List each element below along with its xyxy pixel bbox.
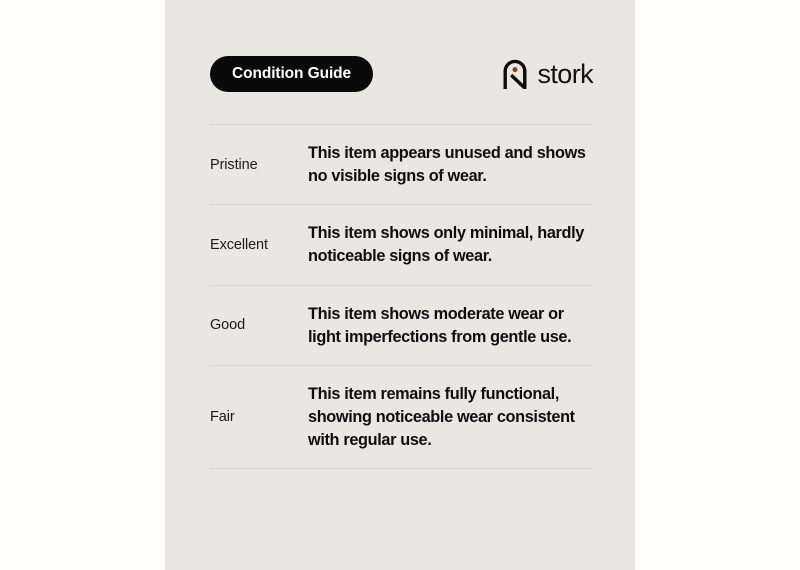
- condition-description: This item remains fully functional, show…: [308, 383, 592, 452]
- table-row: Excellent This item shows only minimal, …: [210, 205, 592, 284]
- table-row: Fair This item remains fully functional,…: [210, 366, 592, 468]
- condition-guide-table: Pristine This item appears unused and sh…: [210, 124, 592, 469]
- condition-description: This item appears unused and shows no vi…: [308, 142, 592, 188]
- table-row: Good This item shows moderate wear or li…: [210, 286, 592, 365]
- condition-description: This item shows moderate wear or light i…: [308, 303, 592, 349]
- condition-label: Good: [210, 316, 308, 335]
- condition-guide-card: Condition Guide stork Pristine This item…: [165, 0, 635, 570]
- table-row: Pristine This item appears unused and sh…: [210, 125, 592, 204]
- brand-name: stork: [537, 61, 593, 88]
- condition-guide-badge: Condition Guide: [210, 56, 373, 92]
- condition-label: Excellent: [210, 236, 308, 255]
- page-root: Condition Guide stork Pristine This item…: [0, 0, 800, 570]
- condition-label: Fair: [210, 408, 308, 427]
- card-header: Condition Guide stork: [165, 56, 635, 92]
- row-divider: [210, 468, 592, 469]
- stork-arch-logo-icon: [502, 59, 528, 89]
- brand-lockup: stork: [502, 56, 593, 92]
- condition-description: This item shows only minimal, hardly not…: [308, 222, 592, 268]
- condition-label: Pristine: [210, 156, 308, 175]
